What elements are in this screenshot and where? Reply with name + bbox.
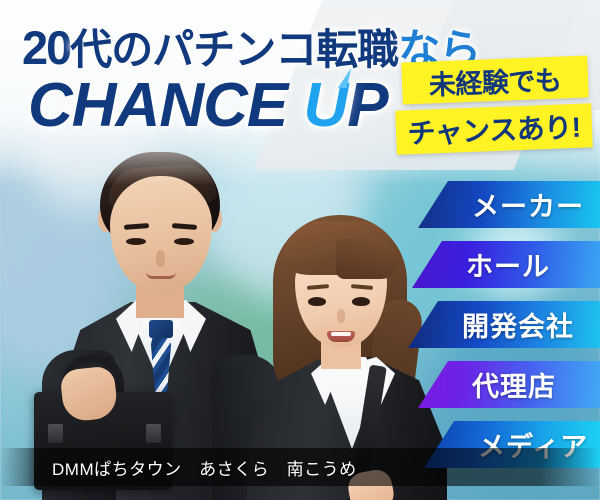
category-button-developer[interactable]: 開発会社 <box>408 301 600 348</box>
logo-letter-p: P <box>347 71 387 140</box>
man-eye-left <box>126 238 146 245</box>
chance-up-logo: CHANCE UP <box>28 70 388 141</box>
man-mouth <box>146 272 176 279</box>
headline-main: 代のパチンコ転職 <box>70 26 398 73</box>
category-button-agency[interactable]: 代理店 <box>418 361 600 408</box>
credit-text: DMMぱちタウン あさくら 南こうめ <box>52 455 357 480</box>
woman-eye-left <box>308 297 326 306</box>
woman-eye-right <box>352 297 370 306</box>
promo-banner: 20代のパチンコ転職なら CHANCE UP 未経験でも チャンスあり! メーカ… <box>0 0 600 500</box>
man-nose <box>156 250 165 267</box>
woman-nose <box>337 309 345 323</box>
man-eyebrow-right <box>172 223 197 230</box>
man-tie-knot <box>149 320 173 338</box>
man-eyebrow-left <box>124 223 149 230</box>
woman-bangs <box>282 221 398 275</box>
headline-number: 20 <box>22 21 70 74</box>
woman-eyebrow-left <box>307 284 329 290</box>
logo-letter-u: U <box>303 70 347 141</box>
woman-mouth <box>327 331 355 342</box>
badge-chance-available: チャンスあり! <box>395 103 593 154</box>
briefcase-clasp-left <box>48 424 63 443</box>
man-face <box>110 176 212 292</box>
credit-bar: DMMぱちタウン あさくら 南こうめ <box>0 448 600 486</box>
category-button-hall[interactable]: ホール <box>412 241 600 288</box>
category-button-maker[interactable]: メーカー <box>418 181 600 228</box>
logo-word-chance: CHANCE <box>28 71 287 140</box>
woman-eyebrow-right <box>351 284 373 290</box>
badge-no-experience: 未経験でも <box>401 55 588 104</box>
man-eye-right <box>174 238 194 245</box>
briefcase-clasp-right <box>146 424 161 443</box>
